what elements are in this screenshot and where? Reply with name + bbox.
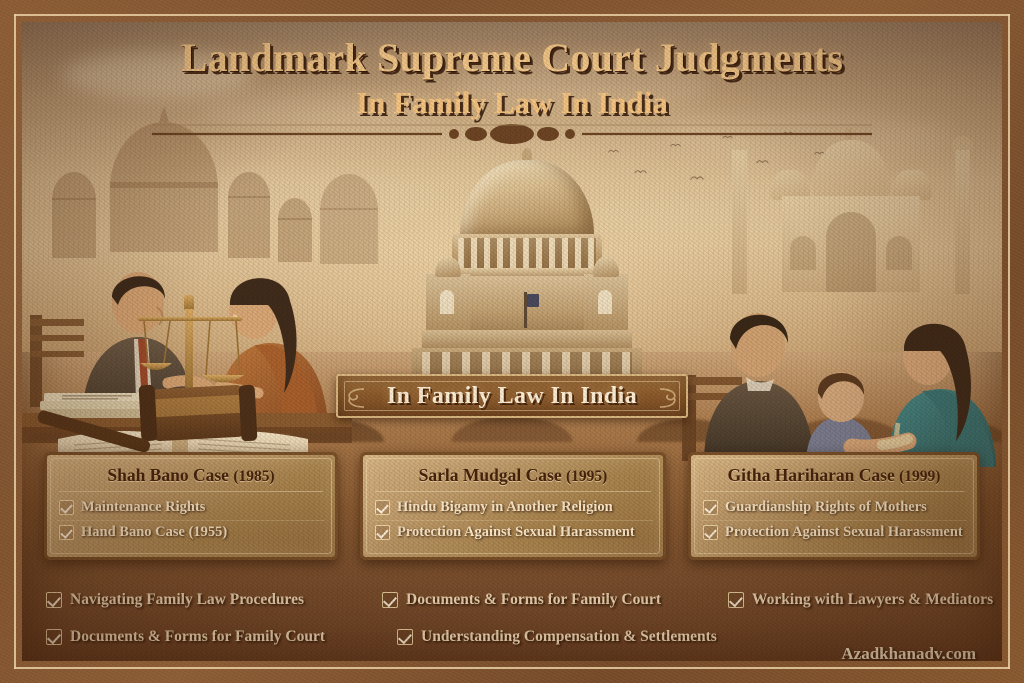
checkmark-icon [59,500,74,515]
case-item-label: Protection Against Sexual Harassment [397,524,635,541]
bottom-checklist: Navigating Family Law Procedures Documen… [22,585,1002,652]
case-card-shah-bano[interactable]: Shah Bano Case (1985) Maintenance Rights… [44,452,338,560]
checklist-item[interactable]: Working with Lawyers & Mediators [728,591,993,609]
case-item[interactable]: Hand Bano Case (1955) [57,521,325,544]
case-item-label: Guardianship Rights of Mothers [725,499,927,516]
checkmark-icon [703,500,718,515]
ornamental-divider [152,122,872,146]
case-item-label: Maintenance Rights [81,499,205,516]
supreme-court-building-illustration [412,142,642,382]
frame-line-right [1008,14,1010,669]
checklist-item-label: Documents & Forms for Family Court [70,628,325,646]
checklist-item[interactable]: Understanding Compensation & Settlements [397,628,717,646]
checkmark-icon [703,525,718,540]
case-year: (1999) [899,468,940,485]
case-card-title: Shah Bano Case (1985) [57,461,325,491]
card-separator [59,491,323,492]
checklist-item-label: Navigating Family Law Procedures [70,591,304,609]
checkmark-icon [382,592,398,608]
poster-canvas: Landmark Supreme Court Judgments In Fami… [22,22,1002,661]
site-watermark: Azadkhanadv.com [841,644,976,661]
case-card-sarla-mudgal[interactable]: Sarla Mudgal Case (1995) Hindu Bigamy in… [360,452,666,560]
family-scene [682,227,1002,477]
checkmark-icon [59,525,74,540]
case-title-text: Shah Bano Case [107,465,229,485]
case-cards-row: Shah Bano Case (1985) Maintenance Rights… [22,452,1002,574]
title-line-1: Landmark Supreme Court Judgments [22,34,1002,81]
case-item-label: Protection Against Sexual Harassment [725,524,963,541]
checklist-row-1: Navigating Family Law Procedures Documen… [22,585,1002,615]
checkmark-icon [46,629,62,645]
case-item[interactable]: Protection Against Sexual Harassment [373,521,653,544]
case-card-title: Sarla Mudgal Case (1995) [373,461,653,491]
checklist-item[interactable]: Documents & Forms for Family Court [46,628,397,646]
card-separator [703,491,965,492]
case-card-title: Githa Hariharan Case (1999) [701,461,967,491]
case-item[interactable]: Protection Against Sexual Harassment [701,521,967,544]
case-title-text: Githa Hariharan Case [728,465,895,485]
frame-line-bottom [14,667,1010,669]
card-separator [375,491,651,492]
infographic-poster: Landmark Supreme Court Judgments In Fami… [0,0,1024,683]
checkmark-icon [46,592,62,608]
banner-text: In Family Law In India [387,383,637,410]
frame-line-top [14,14,1010,16]
poster-title-block: Landmark Supreme Court Judgments In Fami… [22,34,1002,121]
case-card-githa-hariharan[interactable]: Githa Hariharan Case (1999) Guardianship… [688,452,980,560]
frame-line-left [14,14,16,669]
checkmark-icon [397,629,413,645]
checklist-item[interactable]: Navigating Family Law Procedures [46,591,382,609]
father-figure [704,313,814,463]
case-item-label: Hindu Bigamy in Another Religion [397,499,613,516]
case-title-text: Sarla Mudgal Case [419,465,562,485]
title-line-2: In Family Law In India [22,85,1002,121]
case-item[interactable]: Maintenance Rights [57,496,325,519]
case-year: (1995) [566,468,607,485]
case-year: (1985) [233,468,274,485]
bird-icon [690,174,704,180]
subtitle-banner: In Family Law In India [336,374,688,418]
mother-figure [852,324,996,467]
checkmark-icon [728,592,744,608]
flourish-right-icon [658,386,680,410]
checklist-item-label: Documents & Forms for Family Court [406,591,661,609]
case-item-label: Hand Bano Case (1955) [81,524,227,541]
checkmark-icon [375,525,390,540]
lawyer-client-scene [22,187,352,477]
checklist-item-label: Understanding Compensation & Settlements [421,628,717,646]
case-item[interactable]: Hindu Bigamy in Another Religion [373,496,653,519]
case-item[interactable]: Guardianship Rights of Mothers [701,496,967,519]
flourish-left-icon [344,386,366,410]
checklist-item[interactable]: Documents & Forms for Family Court [382,591,728,609]
checklist-item-label: Working with Lawyers & Mediators [752,591,993,609]
checkmark-icon [375,500,390,515]
